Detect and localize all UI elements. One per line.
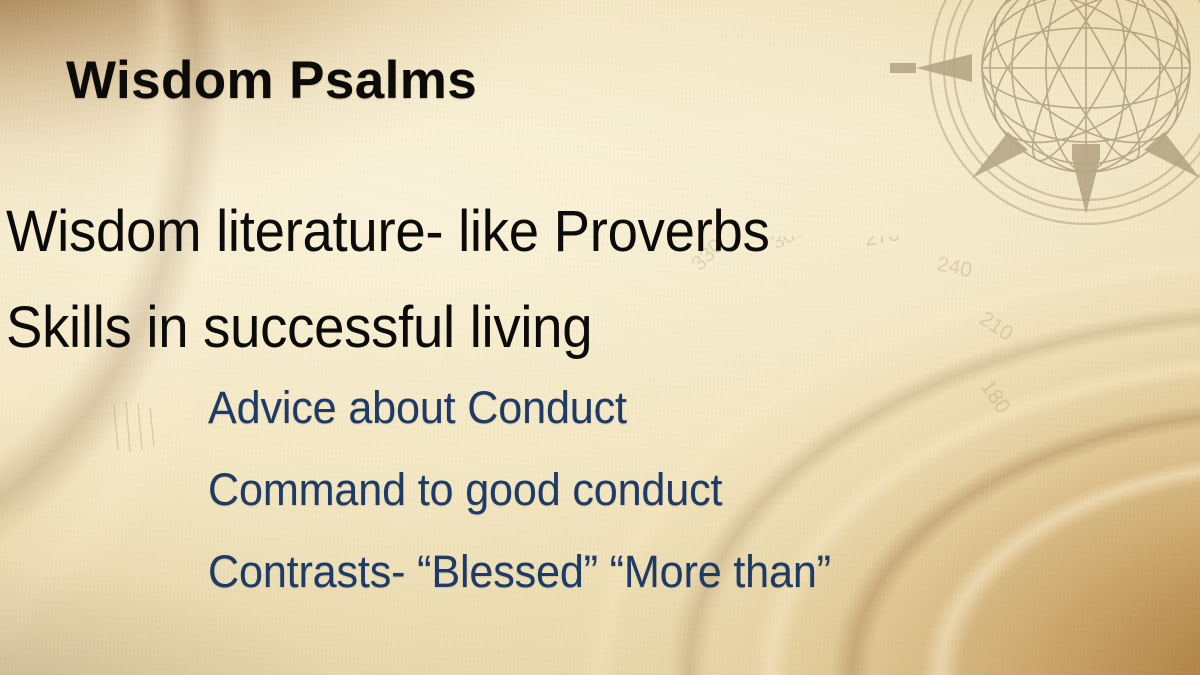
- sub-bullet-line: Command to good conduct: [208, 464, 722, 516]
- slide-title: Wisdom Psalms: [66, 50, 477, 111]
- body-bullet-line: Wisdom literature- like Proverbs: [6, 198, 770, 265]
- sub-bullet-line: Contrasts- “Blessed” “More than”: [208, 546, 831, 598]
- sub-bullet-line: Advice about Conduct: [208, 382, 627, 434]
- presentation-slide: 330 300 270 240 210 180 Wisdom Psalms Wi…: [0, 0, 1200, 675]
- body-bullet-line: Skills in successful living: [6, 294, 592, 361]
- slide-content: Wisdom Psalms Wisdom literature- like Pr…: [0, 0, 1200, 675]
